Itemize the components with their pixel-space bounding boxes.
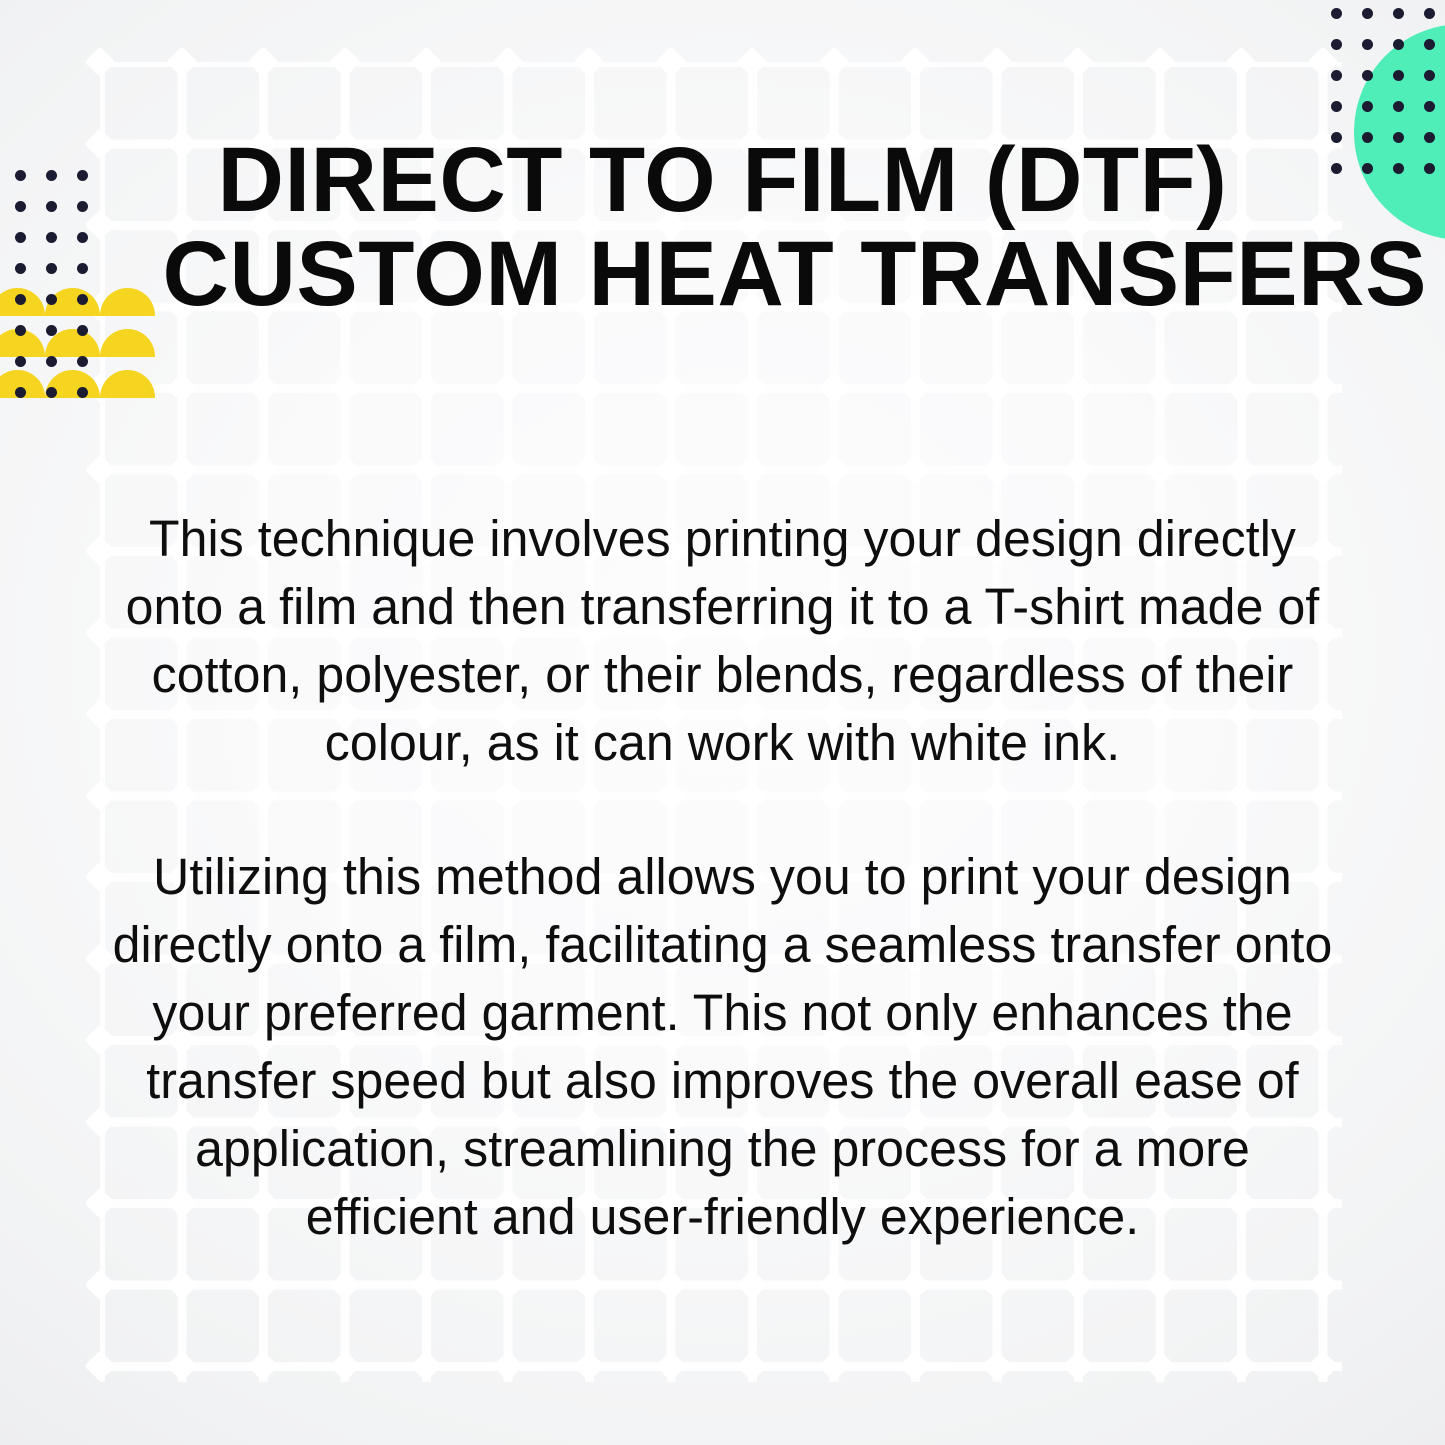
title-line-2: Custom Heat Transfers — [163, 228, 1283, 322]
paragraph-2: Utilizing this method allows you to prin… — [112, 843, 1332, 1251]
page-title: Direct to Film (DTF) Custom Heat Transfe… — [163, 134, 1283, 322]
poster-canvas: Direct to Film (DTF) Custom Heat Transfe… — [0, 0, 1445, 1445]
poster-content: Direct to Film (DTF) Custom Heat Transfe… — [0, 0, 1445, 1445]
title-line-1: Direct to Film (DTF) — [163, 134, 1283, 228]
paragraph-1: This technique involves printing your de… — [112, 505, 1332, 777]
body-text-block: This technique involves printing your de… — [100, 505, 1345, 1251]
